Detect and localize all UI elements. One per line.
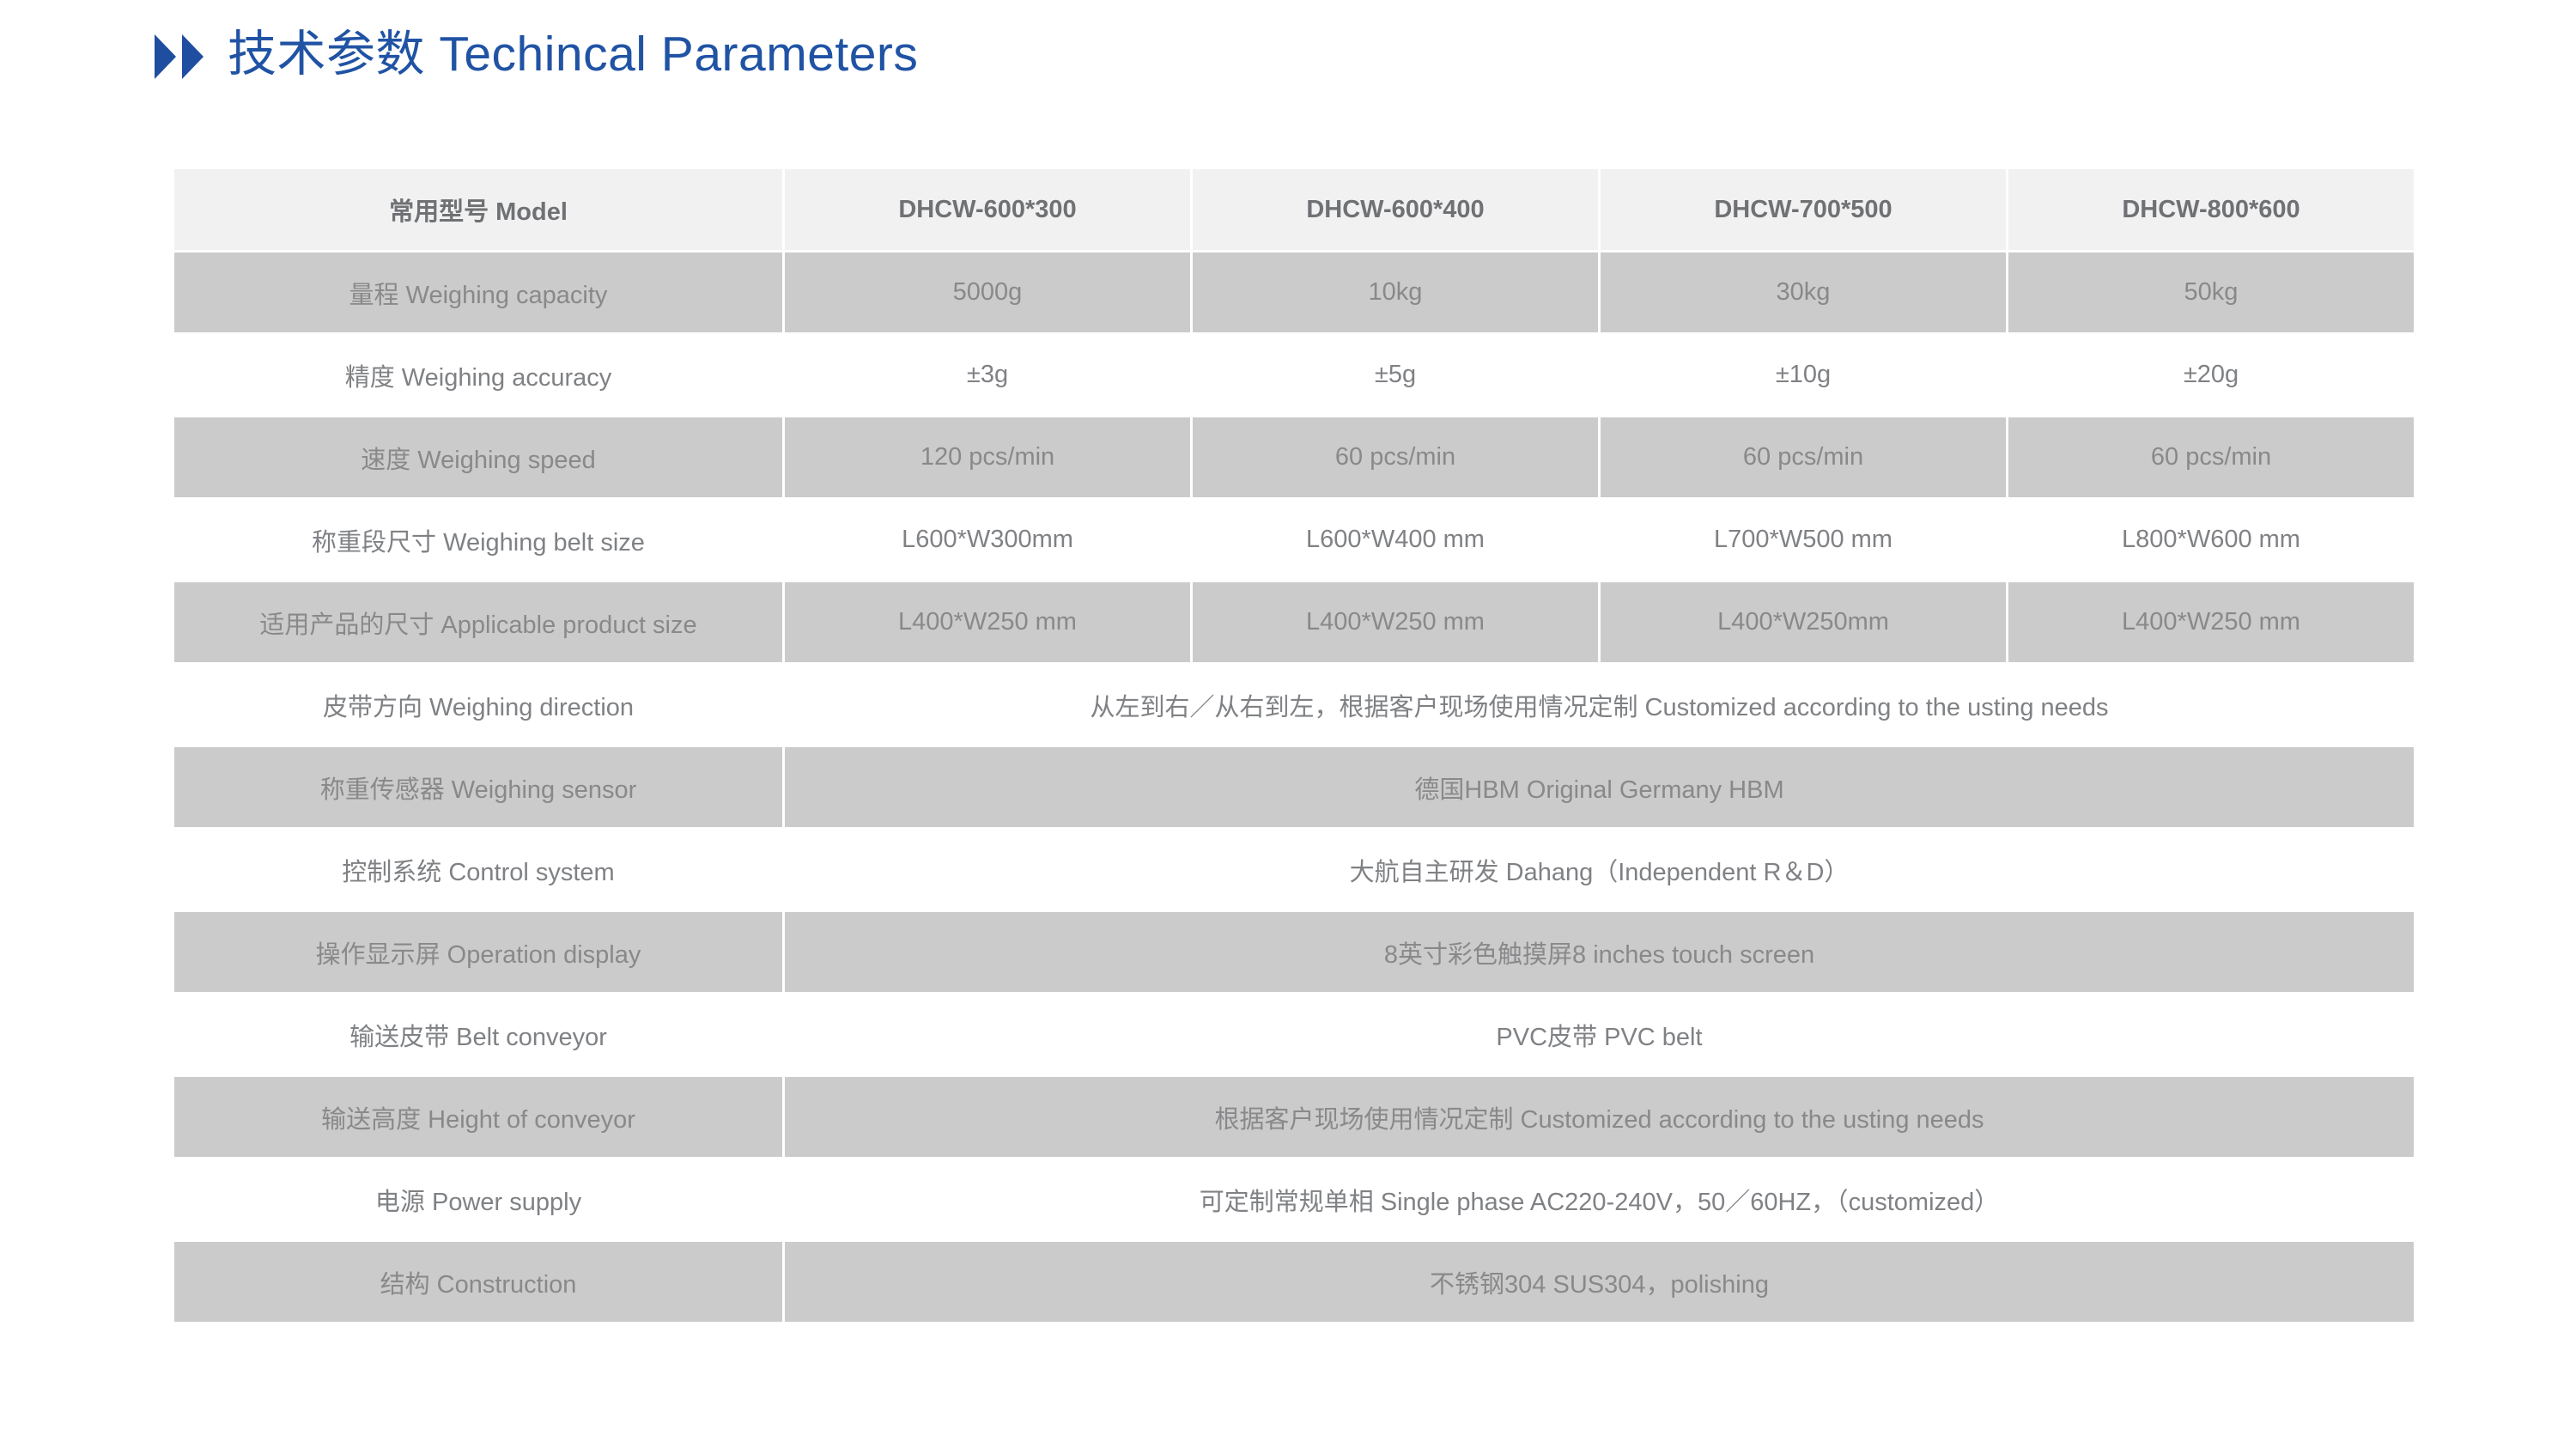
- column-header-2: DHCW-600*400: [1193, 169, 1598, 250]
- table-row: 称重传感器 Weighing sensor德国HBM Original Germ…: [174, 747, 2414, 827]
- row-value-merged: 可定制常规单相 Single phase AC220-240V，50／60HZ，…: [785, 1159, 2414, 1239]
- table-row: 操作显示屏 Operation display8英寸彩色触摸屏8 inches …: [174, 912, 2414, 992]
- page-root: 技术参数 Techincal Parameters 常用型号 ModelDHCW…: [0, 0, 2576, 1448]
- row-label: 称重段尺寸 Weighing belt size: [174, 500, 782, 580]
- title-text-en: Techincal Parameters: [439, 27, 918, 82]
- table-row: 输送高度 Height of conveyor根据客户现场使用情况定制 Cust…: [174, 1077, 2414, 1157]
- row-label: 精度 Weighing accuracy: [174, 335, 782, 415]
- row-value: 60 pcs/min: [1601, 417, 2006, 497]
- row-value: L700*W500 mm: [1601, 500, 2006, 580]
- title-text-cn: 技术参数: [228, 27, 425, 82]
- row-value: L400*W250 mm: [2008, 582, 2414, 662]
- row-label: 控制系统 Control system: [174, 830, 782, 910]
- row-value: 5000g: [785, 252, 1190, 332]
- table-row: 结构 Construction不锈钢304 SUS304，polishing: [174, 1242, 2414, 1322]
- column-header-4: DHCW-800*600: [2008, 169, 2414, 250]
- row-value-merged: 不锈钢304 SUS304，polishing: [785, 1242, 2414, 1322]
- row-label: 适用产品的尺寸 Applicable product size: [174, 582, 782, 662]
- row-value: L400*W250 mm: [785, 582, 1190, 662]
- table-row: 速度 Weighing speed120 pcs/min60 pcs/min60…: [174, 417, 2414, 497]
- row-value: 50kg: [2008, 252, 2414, 332]
- row-value: 60 pcs/min: [2008, 417, 2414, 497]
- table-row: 电源 Power supply可定制常规单相 Single phase AC22…: [174, 1159, 2414, 1239]
- row-value-merged: 德国HBM Original Germany HBM: [785, 747, 2414, 827]
- title-text: 技术参数 Techincal Parameters: [228, 30, 918, 79]
- row-label: 操作显示屏 Operation display: [174, 912, 782, 992]
- table-row: 输送皮带 Belt conveyorPVC皮带 PVC belt: [174, 995, 2414, 1074]
- spec-table: 常用型号 ModelDHCW-600*300DHCW-600*400DHCW-7…: [172, 167, 2416, 1324]
- table-header-row: 常用型号 ModelDHCW-600*300DHCW-600*400DHCW-7…: [174, 169, 2414, 250]
- column-header-model: 常用型号 Model: [174, 169, 782, 250]
- row-label: 输送高度 Height of conveyor: [174, 1077, 782, 1157]
- row-value: L400*W250 mm: [1193, 582, 1598, 662]
- row-label: 结构 Construction: [174, 1242, 782, 1322]
- row-label: 速度 Weighing speed: [174, 417, 782, 497]
- spec-table-container: 常用型号 ModelDHCW-600*300DHCW-600*400DHCW-7…: [172, 167, 2408, 1324]
- arrow-icon-2: [182, 34, 204, 79]
- table-row: 精度 Weighing accuracy±3g±5g±10g±20g: [174, 335, 2414, 415]
- table-row: 皮带方向 Weighing direction从左到右／从右到左，根据客户现场使…: [174, 665, 2414, 745]
- page-title: 技术参数 Techincal Parameters: [155, 29, 918, 79]
- row-label: 皮带方向 Weighing direction: [174, 665, 782, 745]
- row-value: L600*W300mm: [785, 500, 1190, 580]
- column-header-3: DHCW-700*500: [1601, 169, 2006, 250]
- table-row: 控制系统 Control system大航自主研发 Dahang（Indepen…: [174, 830, 2414, 910]
- row-value-merged: PVC皮带 PVC belt: [785, 995, 2414, 1074]
- table-row: 称重段尺寸 Weighing belt sizeL600*W300mmL600*…: [174, 500, 2414, 580]
- row-value: 60 pcs/min: [1193, 417, 1598, 497]
- row-value: 10kg: [1193, 252, 1598, 332]
- row-label: 电源 Power supply: [174, 1159, 782, 1239]
- row-value: 120 pcs/min: [785, 417, 1190, 497]
- row-value: ±3g: [785, 335, 1190, 415]
- arrow-icon-1: [155, 34, 176, 79]
- double-arrow-icon: [155, 34, 204, 79]
- row-label: 称重传感器 Weighing sensor: [174, 747, 782, 827]
- row-value: L600*W400 mm: [1193, 500, 1598, 580]
- row-value-merged: 8英寸彩色触摸屏8 inches touch screen: [785, 912, 2414, 992]
- row-label: 输送皮带 Belt conveyor: [174, 995, 782, 1074]
- row-value: ±20g: [2008, 335, 2414, 415]
- row-value: 30kg: [1601, 252, 2006, 332]
- column-header-1: DHCW-600*300: [785, 169, 1190, 250]
- table-row: 适用产品的尺寸 Applicable product sizeL400*W250…: [174, 582, 2414, 662]
- row-value: L400*W250mm: [1601, 582, 2006, 662]
- row-label: 量程 Weighing capacity: [174, 252, 782, 332]
- row-value-merged: 从左到右／从右到左，根据客户现场使用情况定制 Customized accord…: [785, 665, 2414, 745]
- row-value-merged: 根据客户现场使用情况定制 Customized according to the…: [785, 1077, 2414, 1157]
- table-row: 量程 Weighing capacity5000g10kg30kg50kg: [174, 252, 2414, 332]
- row-value-merged: 大航自主研发 Dahang（Independent R＆D）: [785, 830, 2414, 910]
- row-value: L800*W600 mm: [2008, 500, 2414, 580]
- row-value: ±5g: [1193, 335, 1598, 415]
- row-value: ±10g: [1601, 335, 2006, 415]
